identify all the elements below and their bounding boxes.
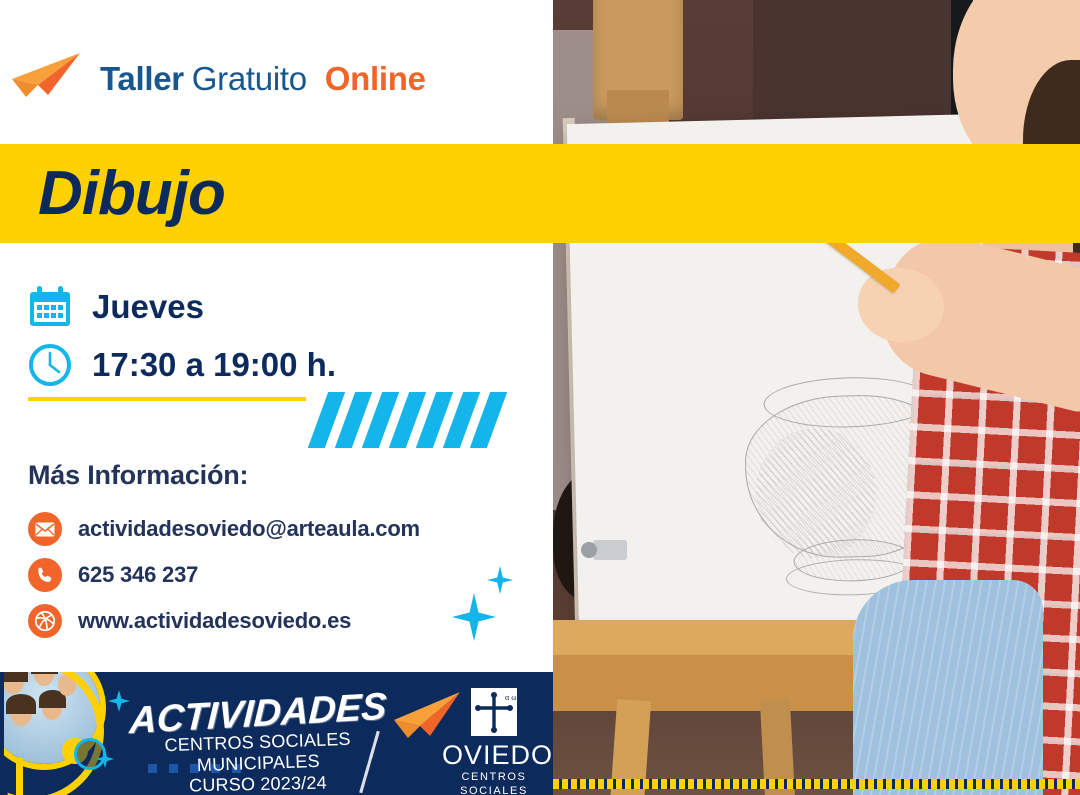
envelope-icon bbox=[28, 512, 62, 546]
contact-website: www.actividadesoviedo.es bbox=[78, 608, 351, 634]
poster: TallerGratuitoOnline Dibujo bbox=[0, 0, 1080, 795]
clock-icon bbox=[24, 342, 76, 388]
svg-text:α ω: α ω bbox=[505, 693, 516, 702]
contact-row-email[interactable]: actividadesoviedo@arteaula.com bbox=[28, 508, 420, 550]
bottom-dashed-strip bbox=[553, 779, 1080, 789]
schedule-row-time: 17:30 a 19:00 h. bbox=[24, 336, 336, 394]
sparkle-icon bbox=[108, 690, 130, 712]
more-info-heading: Más Información: bbox=[28, 460, 248, 491]
schedule-row-day: Jueves bbox=[24, 278, 336, 336]
paper-plane-icon bbox=[8, 51, 84, 107]
bottom-banner: ACTIVIDADES CENTROS SOCIALES MUNICIPALES… bbox=[0, 672, 553, 795]
page-title: Dibujo bbox=[38, 155, 225, 233]
banner-text: ACTIVIDADES CENTROS SOCIALES MUNICIPALES… bbox=[128, 694, 388, 795]
contact-list: actividadesoviedo@arteaula.com 625 346 2… bbox=[28, 508, 420, 646]
schedule-day-label: Jueves bbox=[92, 288, 204, 326]
easel-top-clamp bbox=[593, 0, 683, 120]
sparkle-icon bbox=[96, 750, 114, 768]
divider-rule bbox=[28, 397, 306, 401]
person-hand bbox=[858, 268, 944, 342]
phone-icon bbox=[28, 558, 62, 592]
sparkle-icon bbox=[487, 566, 513, 594]
person-jeans bbox=[853, 580, 1043, 795]
header-word-gratuito: Gratuito bbox=[192, 60, 307, 97]
calendar-icon bbox=[24, 284, 76, 330]
header-word-online: Online bbox=[325, 60, 426, 97]
schedule-time-label: 17:30 a 19:00 h. bbox=[92, 346, 336, 384]
contact-row-phone[interactable]: 625 346 237 bbox=[28, 554, 420, 596]
globe-icon bbox=[28, 604, 62, 638]
diagonal-stripes-decoration bbox=[318, 392, 518, 450]
sparkle-icon bbox=[452, 593, 496, 641]
oviedo-name: OVIEDO bbox=[442, 740, 546, 770]
contact-phone: 625 346 237 bbox=[78, 562, 198, 588]
contact-email: actividadesoviedo@arteaula.com bbox=[78, 516, 420, 542]
header: TallerGratuitoOnline bbox=[0, 48, 553, 110]
oviedo-logo: α ω OVIEDO CENTROS SOCIALES bbox=[442, 688, 546, 795]
header-title: TallerGratuitoOnline bbox=[100, 60, 426, 98]
arc-stem bbox=[16, 758, 23, 795]
banner-subtitle-1: CENTROS SOCIALES MUNICIPALES bbox=[127, 727, 388, 778]
canvas-clip bbox=[593, 540, 627, 560]
workshop-photo bbox=[553, 0, 1080, 795]
banner-left-edge bbox=[0, 672, 4, 795]
contact-row-website[interactable]: www.actividadesoviedo.es bbox=[28, 600, 420, 642]
cruz-de-la-victoria-icon: α ω bbox=[471, 688, 517, 736]
oviedo-subtitle: CENTROS SOCIALES bbox=[442, 770, 546, 795]
schedule-list: Jueves 17:30 a 19:00 h. bbox=[24, 278, 336, 394]
header-word-taller: Taller bbox=[100, 60, 184, 97]
